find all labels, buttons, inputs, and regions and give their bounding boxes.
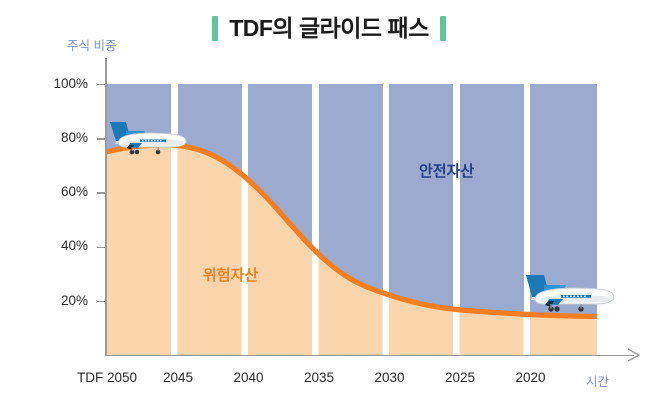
plot-area [107,84,597,355]
x-axis-label-1: 2045 [163,370,193,385]
region-label-safe-asset: 안전자산 [419,160,474,181]
x-axis-label-3: 2035 [304,370,334,385]
x-axis-label-0: TDF 2050 [77,370,137,385]
x-axis-caption: 시간 [586,371,609,390]
airplane-icon [96,117,190,157]
x-axis-label-6: 2020 [515,370,545,385]
y-axis-label-1: 80% [28,130,88,145]
page-title: TDF의 글라이드 패스 [229,17,429,40]
region-label-risk-asset: 위험자산 [203,264,258,285]
title-accent-bar-left [212,16,218,41]
x-axis-label-2: 2040 [233,370,263,385]
x-axis-label-5: 2025 [445,370,475,385]
y-axis-label-2: 60% [28,184,88,199]
y-axis-caption: 주식 비중 [67,35,116,54]
chart-canvas: TDF의 글라이드 패스 주식 비중 시간 100% 80% 60% 40% 2… [0,0,658,414]
x-axis-label-4: 2030 [374,370,404,385]
y-axis-label-3: 40% [28,238,88,253]
title-accent-bar-right [440,16,446,41]
arrow-right-icon [628,348,640,362]
y-axis-label-4: 20% [28,293,88,308]
y-axis-label-0: 100% [28,76,88,91]
airplane-icon [510,269,618,315]
